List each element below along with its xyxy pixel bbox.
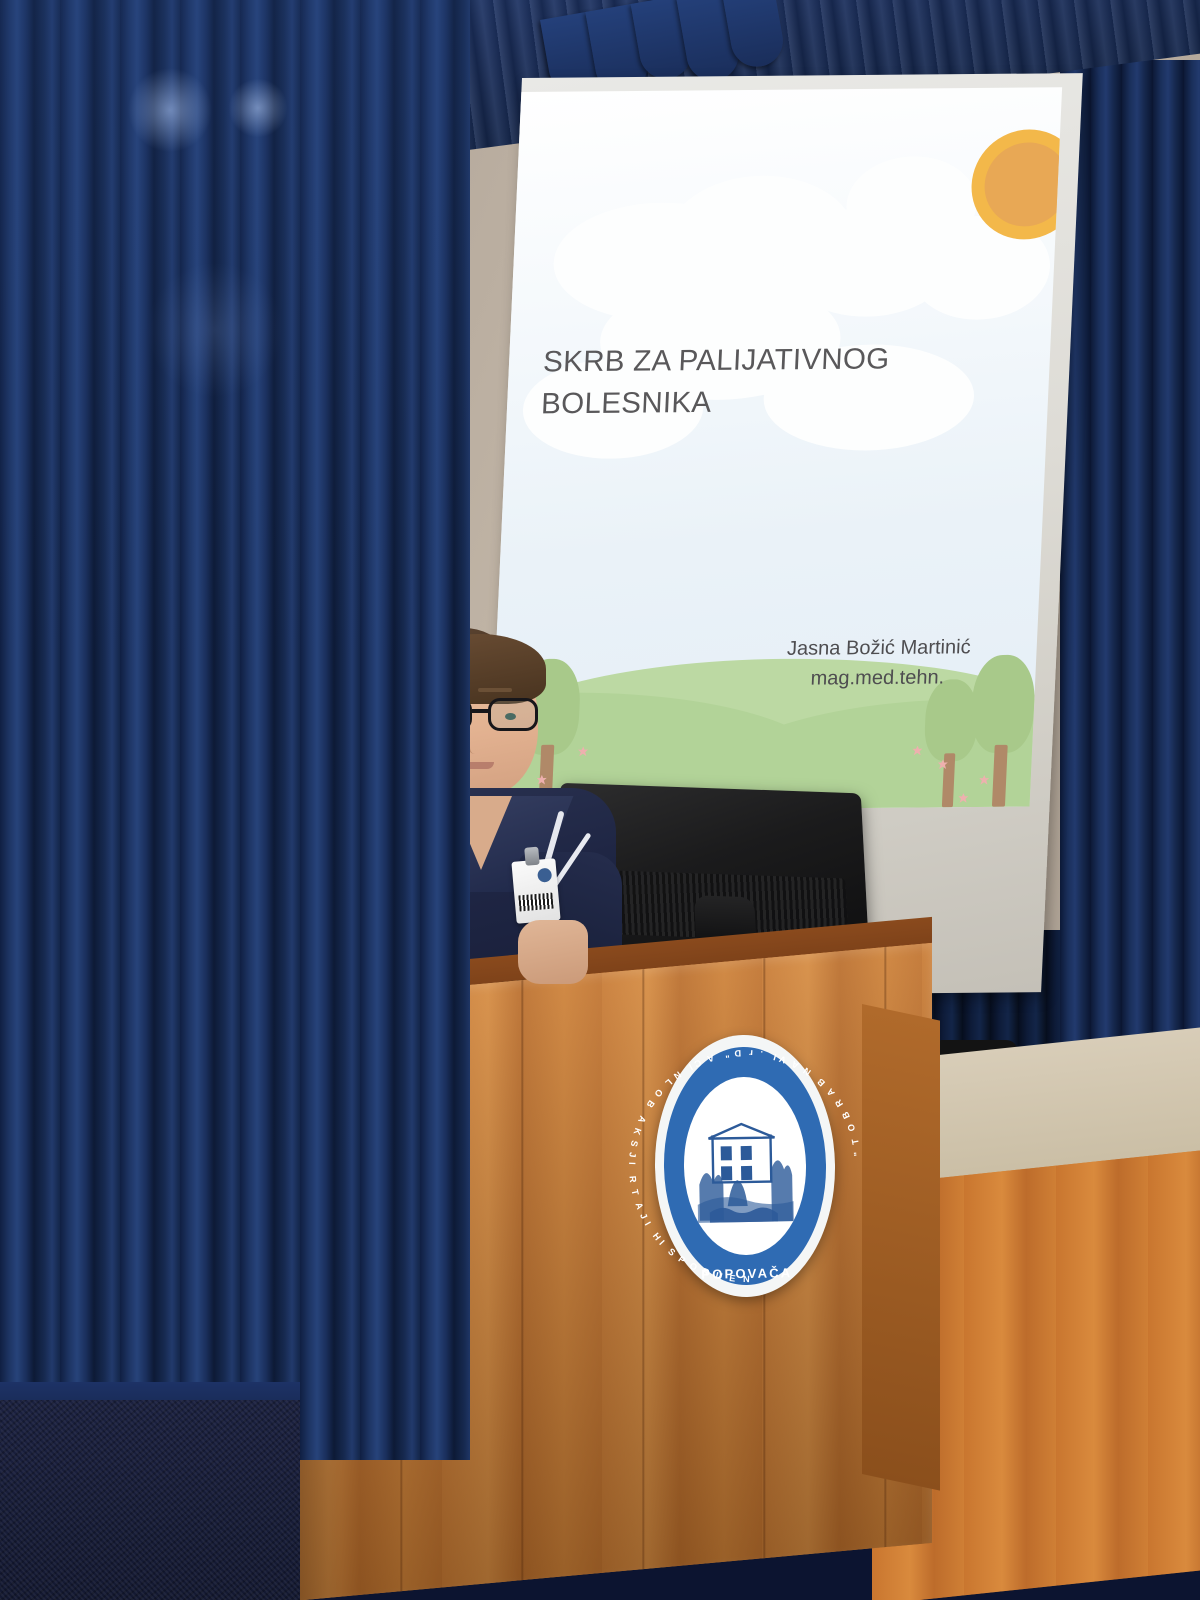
presentation-photo-scene: SKRB ZA PALIJATIVNOG BOLESNIKA Jasna Bož… [0, 0, 1200, 1600]
emblem-arc-text: N E U R O P S I H I J A T R I J S K A B … [653, 1033, 838, 1298]
badge-clip-icon [524, 847, 540, 866]
emblem-bottom-text: POPOVAČA [657, 1264, 837, 1282]
slide-byline: Jasna Božić Martinić mag.med.tehn. [785, 632, 971, 694]
eye-right [505, 713, 516, 720]
hand [518, 920, 588, 984]
id-badge [511, 858, 560, 924]
carpet-floor [0, 1400, 300, 1600]
badge-logo-icon [537, 868, 552, 883]
nose [468, 732, 482, 754]
tree-icon [967, 661, 1036, 807]
sun-core [983, 142, 1062, 227]
curtain-main-left [0, 0, 470, 1460]
lens-right [488, 698, 538, 731]
badge-barcode-icon [518, 893, 553, 912]
presenter-name: Jasna Božić Martinić [786, 632, 971, 664]
podium-side-panel [862, 1004, 940, 1491]
hospital-emblem: N E U R O P S I H I J A T R I J S K A B … [653, 1033, 838, 1298]
presenter-credentials: mag.med.tehn. [785, 662, 970, 694]
slide-title: SKRB ZA PALIJATIVNOG BOLESNIKA [540, 337, 1045, 425]
eyebrow-right [478, 688, 512, 692]
